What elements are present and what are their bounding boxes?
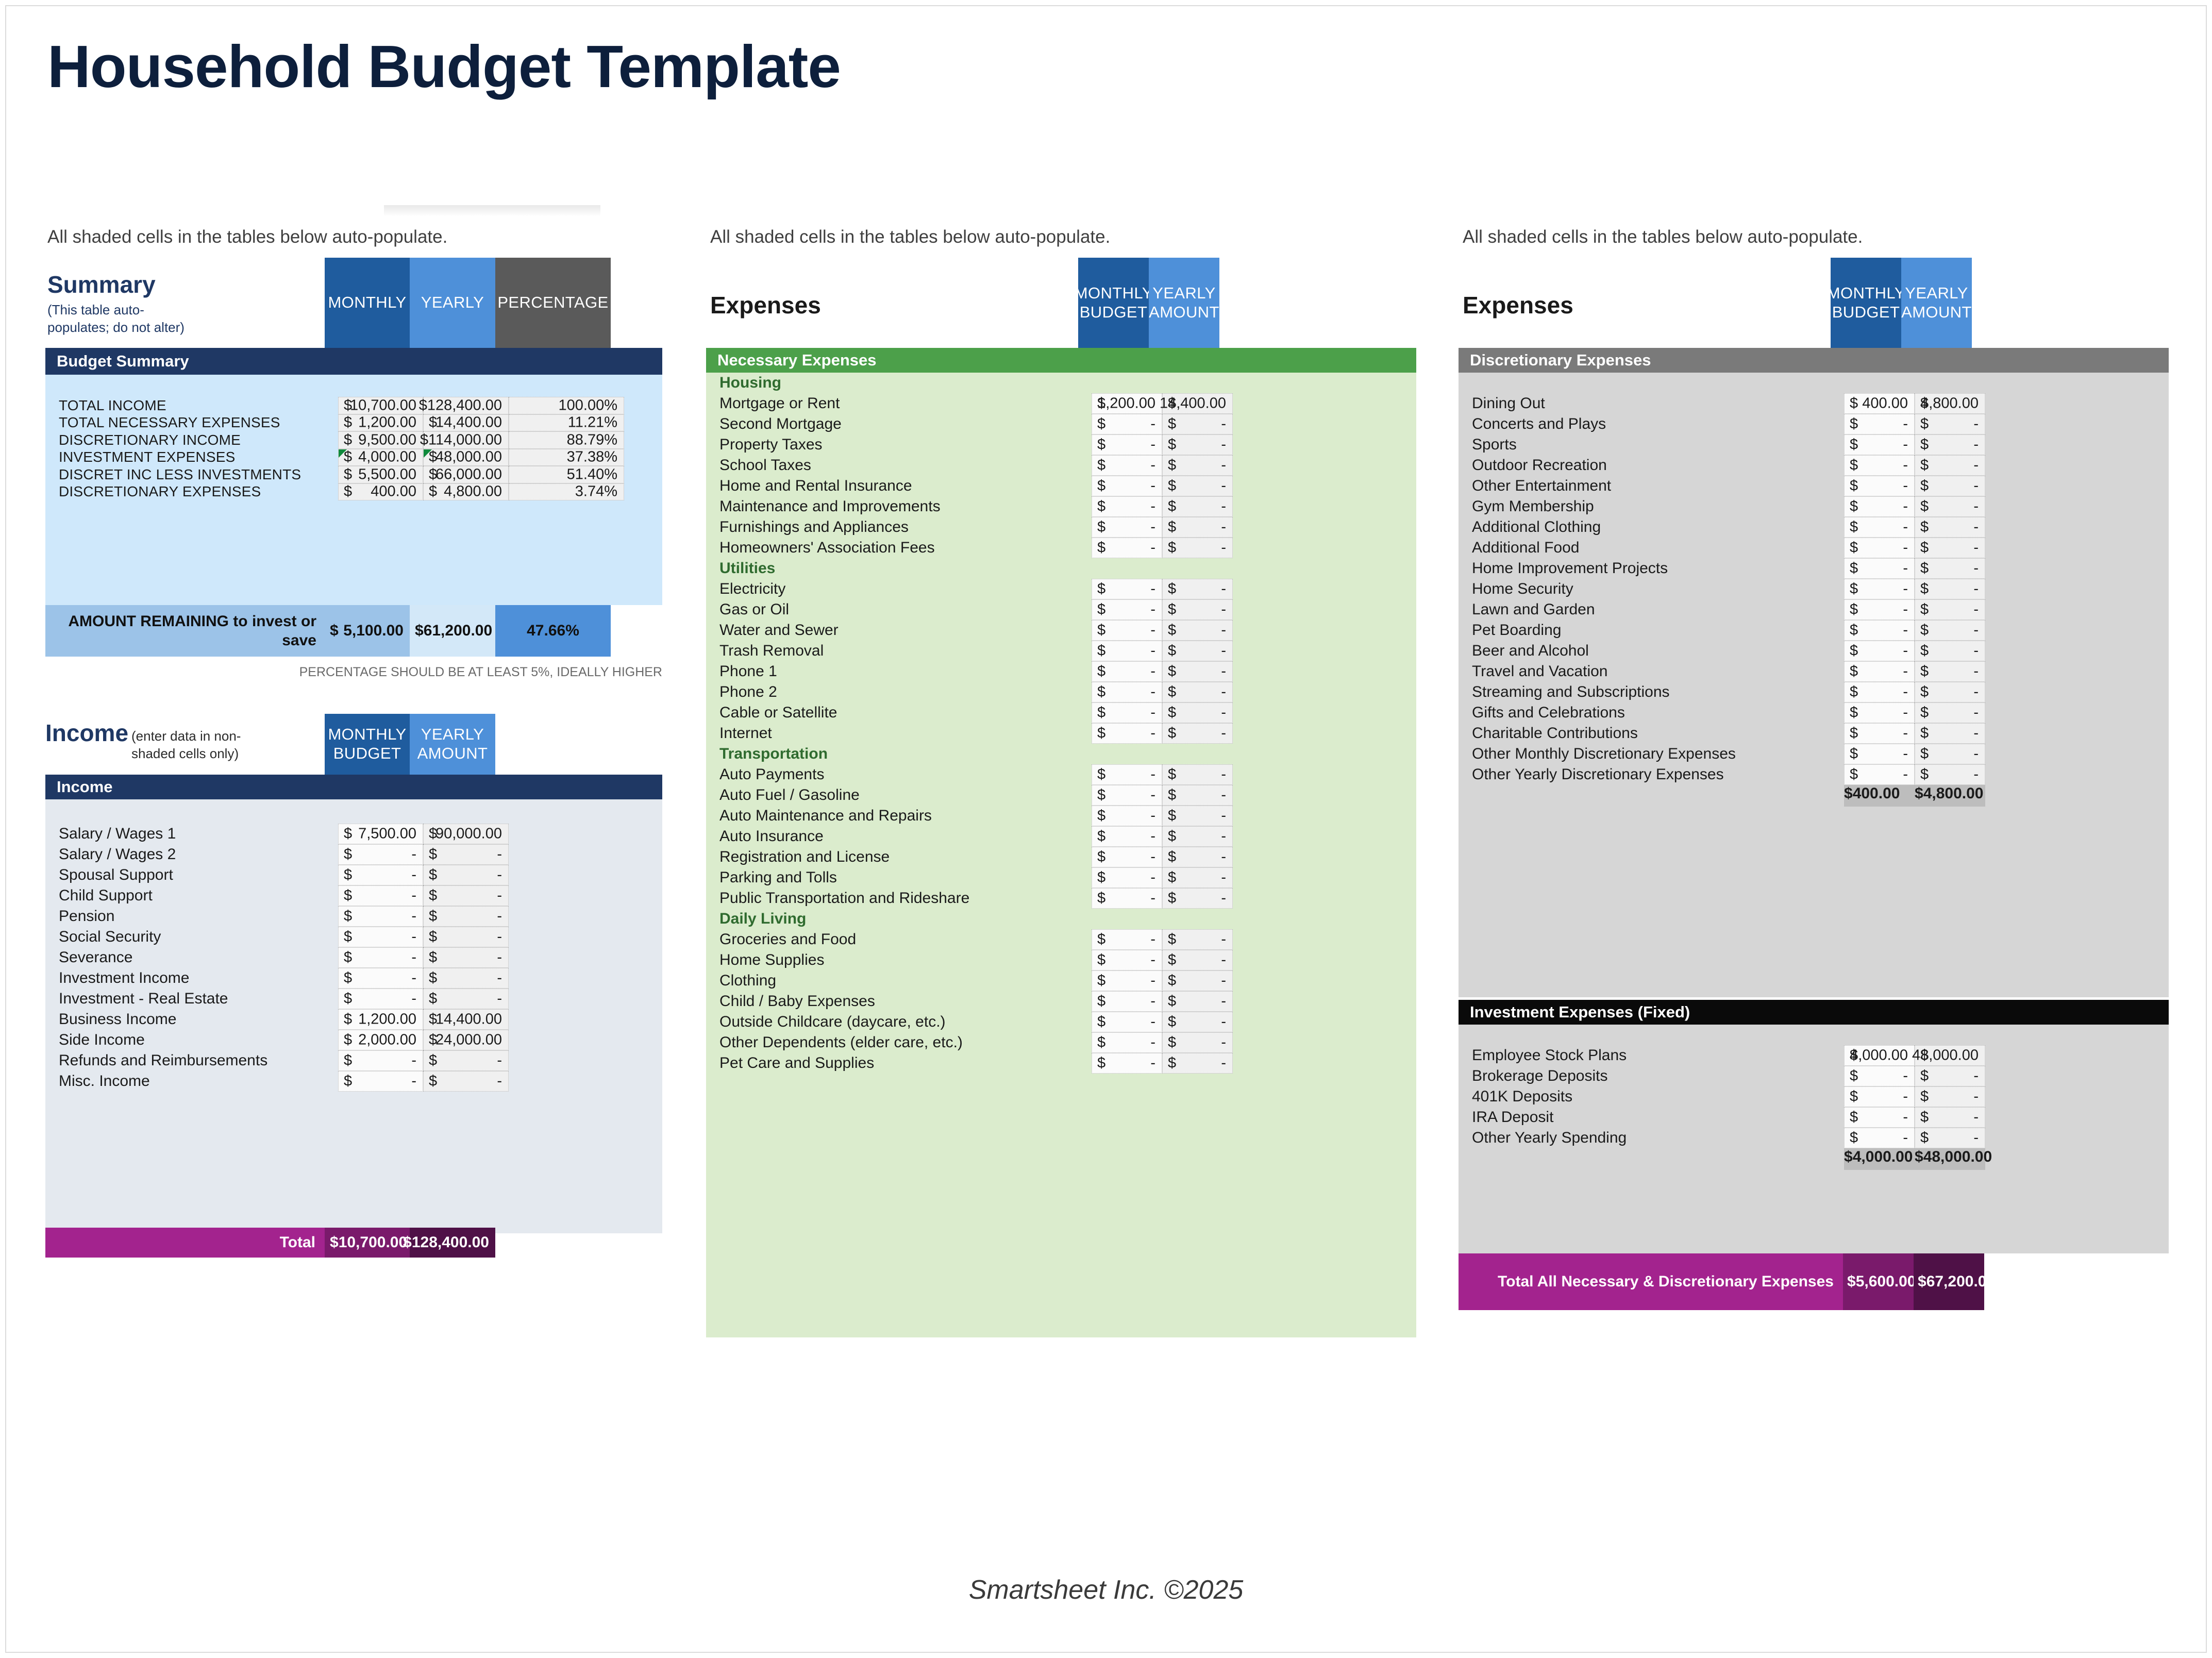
- discretionary-heading: Expenses: [1463, 291, 1573, 319]
- discretionary-yearly-cell[interactable]: $-: [1915, 434, 1985, 455]
- necessary-yearly-cell[interactable]: $-: [1162, 1053, 1233, 1074]
- income-yearly-cell[interactable]: $-: [423, 1071, 509, 1092]
- necessary-row-label: Home Supplies: [706, 951, 1092, 969]
- necessary-row-label: Mortgage or Rent: [706, 395, 1092, 412]
- discretionary-yearly-cell-value: -: [1973, 643, 1979, 660]
- table-row: Other Entertainment$-$-: [1459, 476, 1985, 496]
- necessary-yearly-cell-value: -: [1221, 1055, 1226, 1072]
- necessary-row-label: Second Mortgage: [706, 415, 1092, 433]
- discretionary-yearly-cell[interactable]: $-: [1915, 496, 1985, 517]
- dollar-sign: $: [1920, 437, 1929, 454]
- summary-yearly-cell[interactable]: $114,000.00: [423, 431, 509, 449]
- income-monthly-cell-value: -: [411, 970, 416, 987]
- necessary-row-label: Auto Maintenance and Repairs: [706, 807, 1092, 825]
- necessary-yearly-cell[interactable]: $14,400.00: [1162, 393, 1233, 414]
- dollar-sign: $: [429, 1073, 437, 1090]
- investment-monthly-cell[interactable]: $-: [1844, 1128, 1915, 1148]
- dollar-sign: $: [1920, 746, 1929, 763]
- discretionary-row-label: Other Entertainment: [1459, 477, 1844, 495]
- income-monthly-cell[interactable]: $1,200.00: [338, 1009, 423, 1030]
- summary-monthly-cell[interactable]: $400.00: [338, 483, 423, 501]
- necessary-monthly-cell[interactable]: $-: [1092, 1053, 1162, 1074]
- dollar-sign: $: [1920, 416, 1929, 433]
- dollar-sign: $: [344, 991, 352, 1008]
- necessary-monthly-cell[interactable]: $-: [1092, 847, 1162, 867]
- grand-total-label: Total All Necessary & Discretionary Expe…: [1459, 1253, 1843, 1310]
- necessary-monthly-cell[interactable]: $-: [1092, 826, 1162, 847]
- necessary-yearly-cell[interactable]: $-: [1162, 826, 1233, 847]
- summary-row-label: DISCRETIONARY INCOME: [45, 432, 338, 448]
- necessary-yearly-cell-value: -: [1221, 622, 1226, 639]
- summary-monthly-cell[interactable]: $9,500.00: [338, 431, 423, 449]
- summary-percentage-cell[interactable]: 3.74%: [509, 483, 624, 501]
- necessary-monthly-cell-value: -: [1150, 1014, 1155, 1031]
- summary-monthly-cell-value: 9,500.00: [358, 431, 416, 448]
- dollar-sign: $: [344, 908, 352, 925]
- necessary-monthly-cell[interactable]: $-: [1092, 806, 1162, 826]
- income-row-label: Business Income: [45, 1011, 338, 1028]
- necessary-monthly-cell[interactable]: $-: [1092, 434, 1162, 455]
- investment-monthly-cell-value: -: [1903, 1130, 1908, 1147]
- necessary-yearly-cell[interactable]: $-: [1162, 1032, 1233, 1053]
- table-row: Trash Removal$-$-: [706, 641, 1233, 661]
- discretionary-monthly-cell[interactable]: $-: [1844, 434, 1915, 455]
- necessary-row-label: Child / Baby Expenses: [706, 993, 1092, 1010]
- income-total-label: Total: [45, 1228, 325, 1258]
- income-yearly-cell[interactable]: $24,000.00: [423, 1030, 509, 1050]
- summary-monthly-cell[interactable]: $1,200.00: [338, 414, 423, 432]
- summary-percentage-cell[interactable]: 88.79%: [509, 431, 624, 449]
- necessary-monthly-cell[interactable]: $-: [1092, 702, 1162, 723]
- necessary-yearly-cell[interactable]: $-: [1162, 414, 1233, 434]
- necessary-monthly-cell[interactable]: $-: [1092, 867, 1162, 888]
- necessary-yearly-cell[interactable]: $-: [1162, 950, 1233, 970]
- table-row: Child Support$-$-: [45, 885, 509, 906]
- income-yearly-cell[interactable]: $-: [423, 989, 509, 1009]
- table-row: Travel and Vacation$-$-: [1459, 661, 1985, 682]
- income-monthly-cell[interactable]: $-: [338, 885, 423, 906]
- investment-subtotal-yearly-value: 48,000.00: [1923, 1148, 1992, 1165]
- discretionary-monthly-cell[interactable]: $-: [1844, 723, 1915, 744]
- table-row: Business Income$1,200.00$14,400.00: [45, 1009, 509, 1030]
- dollar-sign: $: [1920, 1088, 1929, 1106]
- necessary-yearly-cell-value: -: [1221, 849, 1226, 866]
- investment-monthly-cell[interactable]: $4,000.00: [1844, 1045, 1915, 1066]
- discretionary-yearly-cell-value: -: [1973, 746, 1979, 763]
- table-row: Furnishings and Appliances$-$-: [706, 517, 1233, 538]
- discretionary-monthly-cell[interactable]: $-: [1844, 599, 1915, 620]
- income-monthly-cell[interactable]: $-: [338, 989, 423, 1009]
- necessary-yearly-cell[interactable]: $-: [1162, 517, 1233, 538]
- necessary-yearly-cell-value: -: [1221, 663, 1226, 680]
- dollar-sign: $: [1097, 869, 1105, 886]
- discretionary-yearly-cell[interactable]: $-: [1915, 476, 1985, 496]
- necessary-monthly-cell-value: -: [1150, 973, 1155, 990]
- note-left: All shaded cells in the tables below aut…: [47, 227, 447, 247]
- income-row-label: Investment Income: [45, 969, 338, 987]
- necessary-monthly-cell[interactable]: $-: [1092, 785, 1162, 806]
- necessary-row-label: Auto Payments: [706, 766, 1092, 783]
- note-right: All shaded cells in the tables below aut…: [1463, 227, 1863, 247]
- necessary-row-label: Internet: [706, 725, 1092, 742]
- necessary-yearly-cell-value: -: [1221, 540, 1226, 557]
- column-header-yearly-amount: YEARLY AMOUNT: [1901, 258, 1972, 348]
- discretionary-monthly-cell[interactable]: $-: [1844, 579, 1915, 599]
- dollar-sign: $: [1097, 581, 1105, 598]
- necessary-yearly-cell[interactable]: $-: [1162, 476, 1233, 496]
- discretionary-monthly-cell-value: -: [1903, 560, 1908, 577]
- discretionary-yearly-cell[interactable]: $-: [1915, 558, 1985, 579]
- discretionary-monthly-cell[interactable]: $-: [1844, 620, 1915, 641]
- discretionary-yearly-cell[interactable]: $-: [1915, 414, 1985, 434]
- dollar-sign: $: [429, 991, 437, 1008]
- investment-yearly-cell[interactable]: $-: [1915, 1066, 1985, 1086]
- dollar-sign: $: [1850, 416, 1858, 433]
- discretionary-monthly-cell[interactable]: $400.00: [1844, 393, 1915, 414]
- discretionary-yearly-cell[interactable]: $-: [1915, 723, 1985, 744]
- necessary-yearly-cell-value: -: [1221, 725, 1226, 742]
- summary-percentage-cell-value: 11.21%: [568, 414, 617, 431]
- necessary-yearly-cell[interactable]: $-: [1162, 641, 1233, 661]
- investment-row-label: IRA Deposit: [1459, 1109, 1844, 1126]
- discretionary-row-label: Additional Food: [1459, 539, 1844, 557]
- dollar-sign: $: [429, 867, 437, 884]
- investment-subtotal-row: $4,000.00$48,000.00: [1459, 1148, 1985, 1170]
- summary-percentage-cell[interactable]: 51.40%: [509, 466, 624, 483]
- necessary-monthly-cell[interactable]: $-: [1092, 579, 1162, 599]
- income-yearly-cell[interactable]: $-: [423, 968, 509, 989]
- discretionary-row-label: Gifts and Celebrations: [1459, 704, 1844, 722]
- income-monthly-cell[interactable]: $7,500.00: [338, 824, 423, 844]
- necessary-yearly-cell-value: -: [1221, 498, 1226, 515]
- discretionary-monthly-cell[interactable]: $-: [1844, 517, 1915, 538]
- table-row: Clothing$-$-: [706, 970, 1233, 991]
- income-yearly-cell[interactable]: $14,400.00: [423, 1009, 509, 1030]
- spacer: [1459, 373, 1985, 393]
- income-monthly-cell[interactable]: $-: [338, 968, 423, 989]
- income-monthly-cell[interactable]: $-: [338, 865, 423, 885]
- investment-expenses-band: Investment Expenses (Fixed): [1459, 1000, 2169, 1025]
- necessary-yearly-cell[interactable]: $-: [1162, 970, 1233, 991]
- discretionary-yearly-cell[interactable]: $-: [1915, 682, 1985, 702]
- necessary-yearly-cell[interactable]: $-: [1162, 1012, 1233, 1032]
- income-yearly-cell-value: -: [497, 929, 502, 946]
- summary-percentage-cell[interactable]: 100.00%: [509, 397, 624, 414]
- table-row: Auto Payments$-$-: [706, 764, 1233, 785]
- necessary-monthly-cell-value: -: [1150, 684, 1155, 701]
- necessary-yearly-cell[interactable]: $-: [1162, 702, 1233, 723]
- necessary-monthly-cell-value: -: [1150, 416, 1155, 433]
- necessary-monthly-cell[interactable]: $-: [1092, 991, 1162, 1012]
- income-monthly-cell-value: 1,200.00: [358, 1011, 416, 1028]
- discretionary-monthly-cell[interactable]: $-: [1844, 702, 1915, 723]
- necessary-monthly-cell[interactable]: $-: [1092, 1012, 1162, 1032]
- income-monthly-cell-value: -: [411, 846, 416, 863]
- investment-monthly-cell[interactable]: $-: [1844, 1066, 1915, 1086]
- discretionary-row-label: Home Improvement Projects: [1459, 560, 1844, 577]
- dollar-sign: $: [344, 1032, 352, 1049]
- discretionary-yearly-cell[interactable]: $4,800.00: [1915, 393, 1985, 414]
- necessary-monthly-cell[interactable]: $-: [1092, 661, 1162, 682]
- necessary-yearly-cell[interactable]: $-: [1162, 455, 1233, 476]
- table-row: Investment Income$-$-: [45, 968, 509, 989]
- necessary-monthly-cell[interactable]: $-: [1092, 455, 1162, 476]
- table-row: Public Transportation and Rideshare$-$-: [706, 888, 1233, 909]
- necessary-yearly-cell[interactable]: $-: [1162, 806, 1233, 826]
- discretionary-monthly-cell[interactable]: $-: [1844, 641, 1915, 661]
- dollar-sign: $: [1168, 622, 1176, 639]
- investment-yearly-cell[interactable]: $-: [1915, 1107, 1985, 1128]
- dollar-sign: $: [1097, 828, 1105, 845]
- necessary-yearly-cell[interactable]: $-: [1162, 661, 1233, 682]
- table-row: Pension$-$-: [45, 906, 509, 927]
- income-yearly-cell[interactable]: $-: [423, 927, 509, 947]
- dollar-sign: $: [1097, 437, 1105, 454]
- necessary-row-label: Electricity: [706, 580, 1092, 598]
- discretionary-yearly-cell[interactable]: $-: [1915, 538, 1985, 558]
- investment-row-label: Employee Stock Plans: [1459, 1047, 1844, 1064]
- necessary-monthly-cell[interactable]: $-: [1092, 496, 1162, 517]
- necessary-yearly-cell[interactable]: $-: [1162, 496, 1233, 517]
- necessary-monthly-cell-value: -: [1150, 601, 1155, 618]
- discretionary-monthly-cell[interactable]: $-: [1844, 661, 1915, 682]
- discretionary-monthly-cell[interactable]: $-: [1844, 744, 1915, 764]
- necessary-monthly-cell[interactable]: $-: [1092, 641, 1162, 661]
- summary-yearly-cell[interactable]: $128,400.00: [423, 397, 509, 414]
- dollar-sign: $: [1168, 684, 1176, 701]
- necessary-yearly-cell-value: -: [1221, 519, 1226, 536]
- investment-subtotal-yearly: $48,000.00: [1915, 1148, 1985, 1170]
- summary-monthly-cell[interactable]: $5,500.00: [338, 466, 423, 483]
- discretionary-row-label: Travel and Vacation: [1459, 663, 1844, 680]
- necessary-yearly-cell-value: -: [1221, 890, 1226, 907]
- necessary-yearly-cell[interactable]: $-: [1162, 620, 1233, 641]
- table-row: IRA Deposit$-$-: [1459, 1107, 1985, 1128]
- summary-monthly-cell-value: 400.00: [371, 483, 416, 500]
- summary-yearly-cell[interactable]: $66,000.00: [423, 466, 509, 483]
- discretionary-yearly-cell[interactable]: $-: [1915, 764, 1985, 785]
- necessary-yearly-cell[interactable]: $-: [1162, 888, 1233, 909]
- discretionary-yearly-cell[interactable]: $-: [1915, 702, 1985, 723]
- dollar-sign: $: [344, 929, 352, 946]
- necessary-rows: HousingMortgage or Rent$1,200.00$14,400.…: [706, 373, 1233, 1074]
- table-row: Side Income$2,000.00$24,000.00: [45, 1030, 509, 1050]
- dollar-sign: $: [1168, 705, 1176, 722]
- income-total-monthly-value: 10,700.00: [339, 1234, 413, 1251]
- necessary-column-headers: MONTHLY BUDGET YEARLY AMOUNT: [1078, 258, 1219, 348]
- summary-monthly-cell[interactable]: $4,000.00: [338, 449, 423, 466]
- income-row-label: Salary / Wages 1: [45, 825, 338, 843]
- necessary-monthly-cell-value: -: [1150, 1034, 1155, 1051]
- necessary-yearly-cell-value: -: [1221, 478, 1226, 495]
- summary-percentage-cell[interactable]: 11.21%: [509, 414, 624, 432]
- dollar-sign: $: [1920, 643, 1929, 660]
- income-yearly-cell[interactable]: $-: [423, 865, 509, 885]
- table-row: Other Monthly Discretionary Expenses$-$-: [1459, 744, 1985, 764]
- summary-heading: Summary: [47, 271, 156, 298]
- necessary-monthly-cell[interactable]: $-: [1092, 1032, 1162, 1053]
- income-yearly-cell[interactable]: $90,000.00: [423, 824, 509, 844]
- necessary-yearly-cell[interactable]: $-: [1162, 599, 1233, 620]
- discretionary-yearly-cell[interactable]: $-: [1915, 641, 1985, 661]
- necessary-monthly-cell[interactable]: $-: [1092, 414, 1162, 434]
- necessary-row-label: Maintenance and Improvements: [706, 498, 1092, 515]
- summary-yearly-cell[interactable]: $14,400.00: [423, 414, 509, 432]
- dollar-sign: $: [344, 1011, 352, 1028]
- necessary-yearly-cell[interactable]: $-: [1162, 538, 1233, 558]
- discretionary-yearly-cell[interactable]: $-: [1915, 661, 1985, 682]
- dollar-sign: $: [1097, 643, 1105, 660]
- investment-yearly-cell[interactable]: $-: [1915, 1128, 1985, 1148]
- income-monthly-cell-value: -: [411, 1052, 416, 1069]
- necessary-yearly-cell[interactable]: $-: [1162, 682, 1233, 702]
- dollar-sign: $: [1920, 540, 1929, 557]
- necessary-monthly-cell-value: -: [1150, 1055, 1155, 1072]
- dollar-sign: $: [344, 887, 352, 905]
- discretionary-rows: Dining Out$400.00$4,800.00Concerts and P…: [1459, 373, 1985, 807]
- necessary-monthly-cell[interactable]: $-: [1092, 929, 1162, 950]
- discretionary-monthly-cell[interactable]: $-: [1844, 414, 1915, 434]
- necessary-monthly-cell[interactable]: $-: [1092, 599, 1162, 620]
- dollar-sign: $: [344, 1052, 352, 1069]
- necessary-monthly-cell[interactable]: $-: [1092, 950, 1162, 970]
- dollar-sign: $: [1168, 457, 1176, 474]
- necessary-yearly-cell[interactable]: $-: [1162, 785, 1233, 806]
- discretionary-yearly-cell[interactable]: $-: [1915, 517, 1985, 538]
- summary-yearly-cell[interactable]: $48,000.00: [423, 449, 509, 466]
- discretionary-monthly-cell[interactable]: $-: [1844, 558, 1915, 579]
- necessary-yearly-cell[interactable]: $-: [1162, 579, 1233, 599]
- income-monthly-cell[interactable]: $-: [338, 1050, 423, 1071]
- discretionary-yearly-cell[interactable]: $-: [1915, 579, 1985, 599]
- discretionary-yearly-cell[interactable]: $-: [1915, 744, 1985, 764]
- necessary-yearly-cell[interactable]: $-: [1162, 847, 1233, 867]
- necessary-monthly-cell[interactable]: $-: [1092, 723, 1162, 744]
- necessary-monthly-cell[interactable]: $-: [1092, 620, 1162, 641]
- necessary-monthly-cell[interactable]: $-: [1092, 538, 1162, 558]
- necessary-yearly-cell[interactable]: $-: [1162, 764, 1233, 785]
- necessary-yearly-cell[interactable]: $-: [1162, 867, 1233, 888]
- discretionary-yearly-cell[interactable]: $-: [1915, 620, 1985, 641]
- discretionary-row-label: Sports: [1459, 436, 1844, 454]
- table-row: Investment - Real Estate$-$-: [45, 989, 509, 1009]
- summary-monthly-cell[interactable]: $10,700.00: [338, 397, 423, 414]
- necessary-yearly-cell[interactable]: $-: [1162, 723, 1233, 744]
- table-row: Cable or Satellite$-$-: [706, 702, 1233, 723]
- dollar-sign: $: [1920, 705, 1929, 722]
- discretionary-monthly-cell[interactable]: $-: [1844, 496, 1915, 517]
- summary-monthly-cell-value: 4,000.00: [358, 449, 416, 466]
- income-monthly-cell[interactable]: $-: [338, 927, 423, 947]
- income-monthly-cell[interactable]: $-: [338, 906, 423, 927]
- discretionary-yearly-cell-value: -: [1973, 663, 1979, 680]
- dollar-sign: $: [1850, 1130, 1858, 1147]
- dollar-sign: $: [1097, 498, 1105, 515]
- summary-percentage-cell-value: 100.00%: [559, 397, 618, 414]
- income-yearly-cell-value: -: [497, 1073, 502, 1090]
- discretionary-monthly-cell[interactable]: $-: [1844, 455, 1915, 476]
- dollar-sign: $: [344, 431, 352, 448]
- income-monthly-cell[interactable]: $-: [338, 1071, 423, 1092]
- discretionary-monthly-cell[interactable]: $-: [1844, 682, 1915, 702]
- discretionary-monthly-cell[interactable]: $-: [1844, 538, 1915, 558]
- discretionary-monthly-cell[interactable]: $-: [1844, 764, 1915, 785]
- investment-yearly-cell[interactable]: $48,000.00: [1915, 1045, 1985, 1066]
- table-row: Pet Boarding$-$-: [1459, 620, 1985, 641]
- income-monthly-cell-value: -: [411, 949, 416, 966]
- dollar-sign: $: [1850, 437, 1858, 454]
- necessary-row-label: Public Transportation and Rideshare: [706, 890, 1092, 907]
- dollar-sign: $: [1168, 787, 1176, 804]
- necessary-monthly-cell[interactable]: $-: [1092, 970, 1162, 991]
- discretionary-column-headers: MONTHLY BUDGET YEARLY AMOUNT: [1831, 258, 1972, 348]
- income-yearly-cell[interactable]: $-: [423, 844, 509, 865]
- necessary-monthly-cell[interactable]: $-: [1092, 476, 1162, 496]
- discretionary-monthly-cell[interactable]: $-: [1844, 476, 1915, 496]
- note-middle: All shaded cells in the tables below aut…: [710, 227, 1110, 247]
- amount-remaining-monthly-value: 5,100.00: [339, 622, 410, 640]
- dollar-sign: $: [1097, 1055, 1105, 1072]
- dollar-sign: $: [344, 1073, 352, 1090]
- income-yearly-cell[interactable]: $-: [423, 947, 509, 968]
- dollar-sign: $: [1168, 973, 1176, 990]
- column-header-monthly: MONTHLY: [325, 258, 410, 348]
- investment-yearly-cell-value: -: [1973, 1068, 1979, 1085]
- discretionary-row-label: Concerts and Plays: [1459, 415, 1844, 433]
- discretionary-monthly-cell-value: -: [1903, 437, 1908, 454]
- dollar-sign: $: [1920, 725, 1929, 742]
- necessary-monthly-cell[interactable]: $-: [1092, 764, 1162, 785]
- necessary-monthly-cell[interactable]: $-: [1092, 682, 1162, 702]
- dollar-sign: $: [1097, 519, 1105, 536]
- dollar-sign: $: [1850, 1109, 1858, 1126]
- discretionary-yearly-cell[interactable]: $-: [1915, 599, 1985, 620]
- necessary-row-label: Cable or Satellite: [706, 704, 1092, 722]
- income-monthly-cell[interactable]: $2,000.00: [338, 1030, 423, 1050]
- necessary-yearly-cell[interactable]: $-: [1162, 929, 1233, 950]
- discretionary-yearly-cell[interactable]: $-: [1915, 455, 1985, 476]
- necessary-monthly-cell-value: -: [1150, 622, 1155, 639]
- income-yearly-cell-value: -: [497, 991, 502, 1008]
- summary-percentage-cell[interactable]: 37.38%: [509, 449, 624, 466]
- dollar-sign: $: [1920, 581, 1929, 598]
- necessary-monthly-cell[interactable]: $-: [1092, 517, 1162, 538]
- necessary-monthly-cell[interactable]: $1,200.00: [1092, 393, 1162, 414]
- table-row: Salary / Wages 1$7,500.00$90,000.00: [45, 824, 509, 844]
- investment-monthly-cell[interactable]: $-: [1844, 1107, 1915, 1128]
- income-monthly-cell[interactable]: $-: [338, 844, 423, 865]
- amount-remaining-row: AMOUNT REMAINING to invest or save $ 5,1…: [45, 605, 662, 657]
- necessary-yearly-cell[interactable]: $-: [1162, 991, 1233, 1012]
- summary-yearly-cell[interactable]: $4,800.00: [423, 483, 509, 501]
- income-monthly-cell[interactable]: $-: [338, 947, 423, 968]
- income-row-label: Side Income: [45, 1031, 338, 1049]
- dollar-sign: $: [1097, 993, 1105, 1010]
- discretionary-row-label: Dining Out: [1459, 395, 1844, 412]
- income-yearly-cell[interactable]: $-: [423, 1050, 509, 1071]
- necessary-monthly-cell[interactable]: $-: [1092, 888, 1162, 909]
- column-header-monthly-budget: MONTHLY BUDGET: [1078, 258, 1149, 348]
- necessary-yearly-cell[interactable]: $-: [1162, 434, 1233, 455]
- dollar-sign: $: [1168, 1014, 1176, 1031]
- dollar-sign: $: [429, 970, 437, 987]
- income-yearly-cell[interactable]: $-: [423, 885, 509, 906]
- investment-yearly-cell[interactable]: $-: [1915, 1086, 1985, 1107]
- summary-yearly-cell-value: 4,800.00: [444, 483, 502, 500]
- income-yearly-cell[interactable]: $-: [423, 906, 509, 927]
- investment-monthly-cell[interactable]: $-: [1844, 1086, 1915, 1107]
- necessary-expenses-band: Necessary Expenses: [706, 348, 1416, 373]
